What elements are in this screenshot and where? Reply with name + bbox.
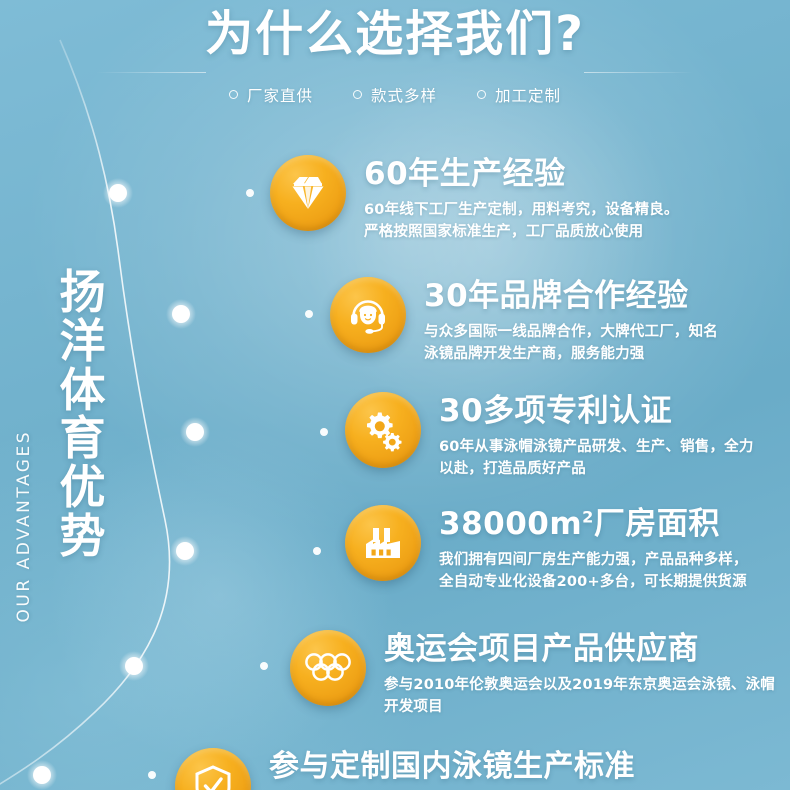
vertical-char-3: 体 (52, 366, 114, 415)
vertical-english-label: OUR ADVANTAGES (14, 430, 34, 622)
feature-item-6-text: 参与定制国内泳镜生产标准 (269, 748, 635, 785)
feature-item-3-title: 30多项专利认证 (439, 394, 754, 430)
vertical-char-1: 扬 (52, 268, 114, 317)
poster-header: 为什么选择我们? 厂家直供 款式多样 加工定制 (0, 8, 790, 106)
vertical-brand-title: 扬 洋 体 育 优 势 (52, 268, 114, 561)
vertical-char-6: 势 (52, 512, 114, 561)
vertical-char-5: 优 (52, 463, 114, 512)
feature-item-3: 30多项专利认证 60年从事泳帽泳镜产品研发、生产、销售，全力 以赴，打造品质好… (345, 392, 754, 481)
feature-item-5-text: 奥运会项目产品供应商 参与2010年伦敦奥运会以及2019年东京奥运会泳镜、泳帽… (384, 630, 775, 719)
circle-bullet-icon (353, 90, 362, 99)
feature-item-4-desc-line-1: 我们拥有四间厂房生产能力强，产品品种多样， (439, 549, 748, 571)
olympic-rings-icon (290, 630, 366, 706)
feature-item-1: 60年生产经验 60年线下工厂生产定制，用料考究，设备精良。 严格按照国家标准生… (270, 155, 679, 244)
feature-item-5-desc-line-1: 参与2010年伦敦奥运会以及2019年东京奥运会泳镜、泳帽 (384, 674, 775, 696)
feature-item-1-desc: 60年线下工厂生产定制，用料考究，设备精良。 严格按照国家标准生产，工厂品质放心… (364, 199, 679, 244)
subtitle-item-1-label: 厂家直供 (247, 84, 313, 106)
page-title: 为什么选择我们? (0, 8, 790, 62)
feature-item-4-desc: 我们拥有四间厂房生产能力强，产品品种多样， 全自动专业化设备200+多台，可长期… (439, 549, 748, 594)
feature-item-3-desc-line-1: 60年从事泳帽泳镜产品研发、生产、销售，全力 (439, 436, 754, 458)
feature-item-4: 38000m2厂房面积 我们拥有四间厂房生产能力强，产品品种多样， 全自动专业化… (345, 505, 748, 594)
circle-bullet-icon (477, 90, 486, 99)
feature-item-3-desc-line-2: 以赴，打造品质好产品 (439, 458, 754, 480)
subtitle-item-3: 加工定制 (477, 84, 561, 106)
feature-list: 60年生产经验 60年线下工厂生产定制，用料考究，设备精良。 严格按照国家标准生… (0, 0, 790, 790)
feature-item-3-desc: 60年从事泳帽泳镜产品研发、生产、销售，全力 以赴，打造品质好产品 (439, 436, 754, 481)
vertical-char-2: 洋 (52, 317, 114, 366)
subtitle-row: 厂家直供 款式多样 加工定制 (0, 84, 790, 106)
subtitle-item-3-label: 加工定制 (495, 84, 561, 106)
diamond-icon (270, 155, 346, 231)
subtitle-item-2-label: 款式多样 (371, 84, 437, 106)
feature-item-2-desc: 与众多国际一线品牌合作，大牌代工厂，知名 泳镜品牌开发生产商，服务能力强 (424, 321, 718, 366)
feature-item-4-desc-line-2: 全自动专业化设备200+多台，可长期提供货源 (439, 571, 748, 593)
subtitle-item-1: 厂家直供 (229, 84, 313, 106)
factory-icon (345, 505, 421, 581)
feature-item-5-title: 奥运会项目产品供应商 (384, 632, 775, 668)
feature-item-2: 30年品牌合作经验 与众多国际一线品牌合作，大牌代工厂，知名 泳镜品牌开发生产商… (330, 277, 718, 366)
feature-item-2-title: 30年品牌合作经验 (424, 279, 718, 315)
vertical-char-4: 育 (52, 414, 114, 463)
circle-bullet-icon (229, 90, 238, 99)
feature-item-2-text: 30年品牌合作经验 与众多国际一线品牌合作，大牌代工厂，知名 泳镜品牌开发生产商… (424, 277, 718, 366)
feature-item-6: 参与定制国内泳镜生产标准 (175, 748, 635, 790)
headset-support-icon (330, 277, 406, 353)
feature-item-5: 奥运会项目产品供应商 参与2010年伦敦奥运会以及2019年东京奥运会泳镜、泳帽… (290, 630, 775, 719)
subtitle-item-2: 款式多样 (353, 84, 437, 106)
feature-item-1-title: 60年生产经验 (364, 157, 679, 193)
feature-item-2-desc-line-2: 泳镜品牌开发生产商，服务能力强 (424, 343, 718, 365)
feature-item-5-desc-line-2: 开发项目 (384, 696, 775, 718)
promo-poster: 为什么选择我们? 厂家直供 款式多样 加工定制 扬 洋 体 育 优 势 OUR … (0, 0, 790, 790)
feature-item-4-title-superscript: 2 (582, 508, 594, 527)
shield-check-icon (175, 748, 251, 790)
feature-item-4-title-pre: 38000m (439, 506, 582, 542)
feature-item-4-title: 38000m2厂房面积 (439, 507, 748, 543)
feature-item-5-desc: 参与2010年伦敦奥运会以及2019年东京奥运会泳镜、泳帽 开发项目 (384, 674, 775, 719)
feature-item-2-desc-line-1: 与众多国际一线品牌合作，大牌代工厂，知名 (424, 321, 718, 343)
feature-item-3-text: 30多项专利认证 60年从事泳帽泳镜产品研发、生产、销售，全力 以赴，打造品质好… (439, 392, 754, 481)
feature-item-6-title: 参与定制国内泳镜生产标准 (269, 750, 635, 785)
feature-item-1-desc-line-1: 60年线下工厂生产定制，用料考究，设备精良。 (364, 199, 679, 221)
feature-item-1-desc-line-2: 严格按照国家标准生产，工厂品质放心使用 (364, 221, 679, 243)
feature-item-4-text: 38000m2厂房面积 我们拥有四间厂房生产能力强，产品品种多样， 全自动专业化… (439, 505, 748, 594)
gears-icon (345, 392, 421, 468)
feature-item-4-title-post: 厂房面积 (594, 506, 720, 542)
feature-item-1-text: 60年生产经验 60年线下工厂生产定制，用料考究，设备精良。 严格按照国家标准生… (364, 155, 679, 244)
